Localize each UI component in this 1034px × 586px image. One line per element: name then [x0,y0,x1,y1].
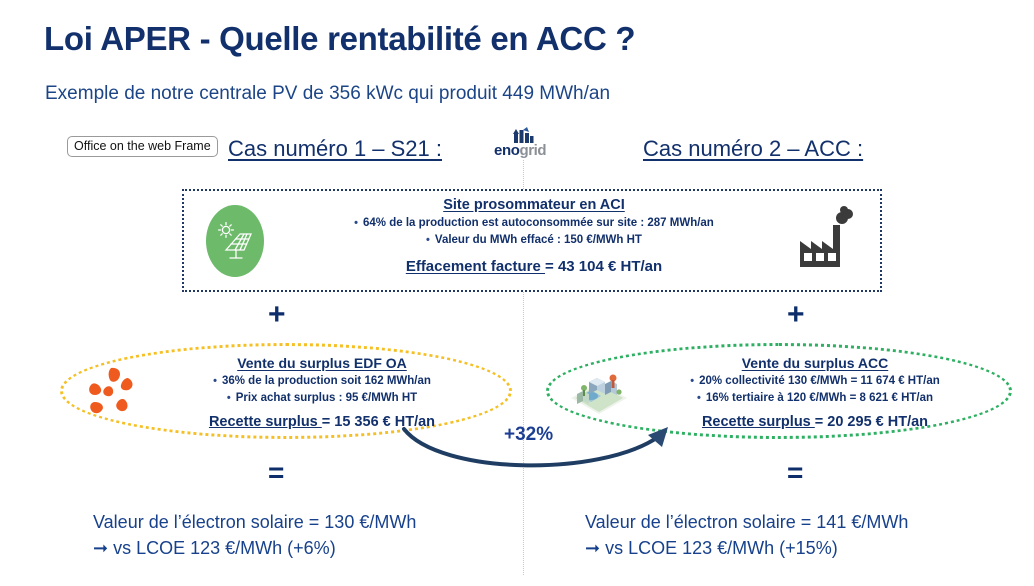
right-surplus-total: Recette surplus = 20 295 € HT/an [641,414,989,430]
edf-sun-logo-icon [81,362,145,424]
slide-canvas: Loi APER - Quelle rentabilité en ACC ? E… [0,0,1034,586]
left-conclusion-line2: ➞ vs LCOE 123 €/MWh (+6%) [93,536,416,562]
aci-text-block: Site prosommateur en ACI •64% de la prod… [334,197,734,275]
page-subtitle: Exemple de notre centrale PV de 356 kWc … [45,83,610,105]
aci-bullet-1: •64% de la production est autoconsommée … [334,215,734,232]
left-surplus-title: Vente du surplus EDF OA [155,355,489,371]
left-bullet-1: •36% de la production soit 162 MWh/an [155,373,489,390]
equals-sign-right: = [787,459,803,487]
enogrid-logo: enogrid [494,128,558,166]
left-conclusion: Valeur de l’électron solaire = 130 €/MWh… [93,510,416,561]
office-web-frame-badge[interactable]: Office on the web Frame [67,136,218,157]
aci-total: Effacement facture = 43 104 € HT/an [334,258,734,275]
right-arrow-icon: ➞ [93,538,108,558]
left-conclusion-line1: Valeur de l’électron solaire = 130 €/MWh [93,510,416,536]
case-2-heading: Cas numéro 2 – ACC : [643,136,863,162]
equals-sign-left: = [268,459,284,487]
enogrid-wordmark: enogrid [494,142,546,159]
left-bullet-2: •Prix achat surplus : 95 €/MWh HT [155,390,489,407]
case-1-heading: Cas numéro 1 – S21 : [228,136,442,162]
aci-bullet-2: •Valeur du MWh effacé : 150 €/MWh HT [334,232,734,249]
plus-sign-left: + [268,300,286,330]
solar-panel-icon [206,205,264,277]
right-conclusion: Valeur de l’électron solaire = 141 €/MWh… [585,510,908,561]
aci-title: Site prosommateur en ACI [334,197,734,213]
right-arrow-icon: ➞ [585,538,600,558]
right-bullet-1: •20% collectivité 130 €/MWh = 11 674 € H… [641,373,989,390]
factory-icon [792,205,862,275]
growth-percentage-label: +32% [504,424,553,446]
right-bullet-2: •16% tertiaire à 120 €/MWh = 8 621 € HT/… [641,390,989,407]
right-surplus-title: Vente du surplus ACC [641,355,989,371]
plus-sign-right: + [787,300,805,330]
aci-site-box: Site prosommateur en ACI •64% de la prod… [182,189,882,292]
page-title: Loi APER - Quelle rentabilité en ACC ? [44,20,635,58]
right-conclusion-line2: ➞ vs LCOE 123 €/MWh (+15%) [585,536,908,562]
right-conclusion-line1: Valeur de l’électron solaire = 141 €/MWh [585,510,908,536]
right-surplus-text: Vente du surplus ACC •20% collectivité 1… [641,355,989,430]
